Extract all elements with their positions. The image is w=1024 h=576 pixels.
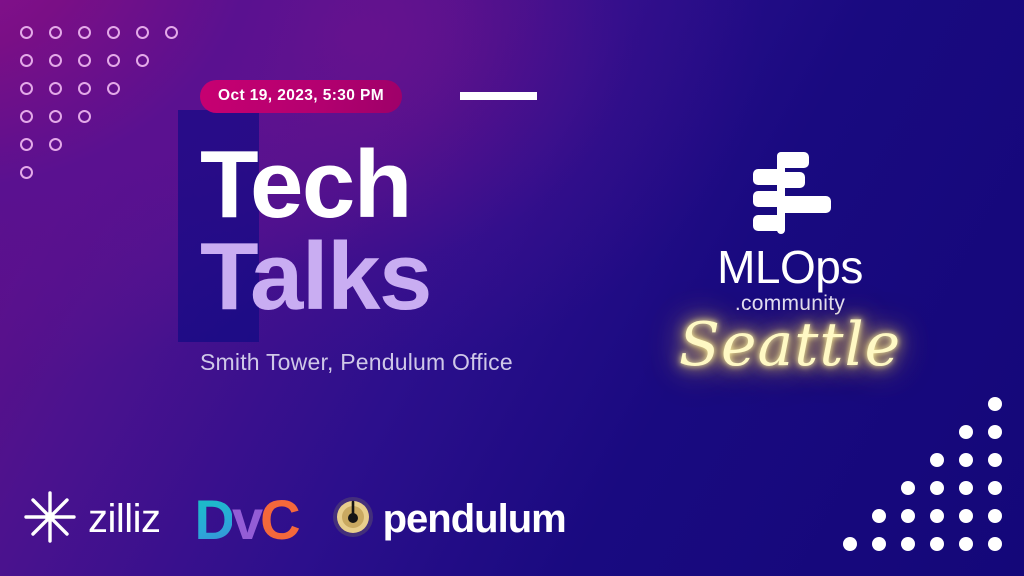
dot-row (20, 46, 194, 74)
filled-dot (930, 453, 944, 467)
sponsor-zilliz: zilliz (22, 489, 161, 550)
dot-row (20, 18, 194, 46)
hollow-dot (107, 26, 120, 39)
filled-dot (930, 509, 944, 523)
filled-dot (959, 537, 973, 551)
zilliz-wordmark: zilliz (88, 497, 161, 542)
hollow-dot (20, 26, 33, 39)
filled-dot (872, 537, 886, 551)
hollow-dot (78, 110, 91, 123)
hollow-dot (78, 82, 91, 95)
mlops-community-logo: MLOps .community Seattle (660, 150, 920, 377)
dot-row (828, 446, 1002, 474)
filled-dot (901, 537, 915, 551)
event-details: Oct 19, 2023, 5:30 PM Tech Talks Smith T… (200, 80, 670, 376)
sponsor-dvc: DvC (195, 492, 298, 548)
filled-dot (959, 453, 973, 467)
dot-row (20, 102, 194, 130)
dvc-letter-c: C (260, 488, 297, 551)
hollow-dot (107, 54, 120, 67)
filled-dot (988, 537, 1002, 551)
hollow-dot (49, 82, 62, 95)
dvc-wordmark-icon: DvC (195, 492, 298, 548)
hollow-dot (78, 26, 91, 39)
dot-row (20, 74, 194, 102)
hollow-dot (20, 54, 33, 67)
pendulum-wordmark: pendulum (383, 497, 566, 542)
filled-dot (901, 481, 915, 495)
sponsor-logos: zilliz DvC pendulum (22, 489, 566, 550)
title-line-1: Tech (200, 139, 670, 231)
dvc-letter-d: D (195, 488, 232, 551)
zilliz-starburst-icon (22, 489, 78, 550)
filled-dot (988, 425, 1002, 439)
page-title: Tech Talks (200, 139, 670, 323)
filled-dot (959, 509, 973, 523)
dot-row (828, 418, 1002, 446)
dot-row (828, 474, 1002, 502)
filled-dot (988, 397, 1002, 411)
event-venue: Smith Tower, Pendulum Office (200, 349, 670, 376)
hollow-dot (49, 138, 62, 151)
hollow-dot (136, 54, 149, 67)
event-date-badge: Oct 19, 2023, 5:30 PM (200, 80, 402, 113)
mlops-steps-icon (744, 150, 836, 238)
dot-row (20, 158, 194, 186)
filled-dot (843, 537, 857, 551)
hollow-dot (20, 166, 33, 179)
filled-dot (872, 509, 886, 523)
filled-dot (930, 481, 944, 495)
filled-dot (959, 481, 973, 495)
filled-dot (988, 509, 1002, 523)
decor-dots-top-left (20, 18, 194, 186)
filled-dot (988, 481, 1002, 495)
dot-row (828, 502, 1002, 530)
filled-dot (959, 425, 973, 439)
mlops-wordmark: MLOps (660, 244, 920, 290)
hollow-dot (49, 54, 62, 67)
filled-dot (988, 453, 1002, 467)
decor-dots-bottom-right (828, 390, 1002, 558)
dot-row (828, 530, 1002, 558)
sponsor-pendulum: pendulum (332, 496, 566, 543)
hollow-dot (49, 26, 62, 39)
hollow-dot (20, 138, 33, 151)
hollow-dot (107, 82, 120, 95)
hollow-dot (78, 54, 91, 67)
hollow-dot (165, 26, 178, 39)
dot-row (828, 390, 1002, 418)
filled-dot (901, 509, 915, 523)
event-poster: Oct 19, 2023, 5:30 PM Tech Talks Smith T… (0, 0, 1024, 576)
hollow-dot (20, 82, 33, 95)
filled-dot (930, 537, 944, 551)
chapter-name: Seattle (660, 314, 920, 377)
dot-row (20, 130, 194, 158)
dvc-letter-v: v (232, 488, 260, 551)
hollow-dot (20, 110, 33, 123)
hollow-dot (49, 110, 62, 123)
title-line-2: Talks (200, 231, 670, 323)
hollow-dot (136, 26, 149, 39)
pendulum-dial-icon (332, 496, 374, 543)
